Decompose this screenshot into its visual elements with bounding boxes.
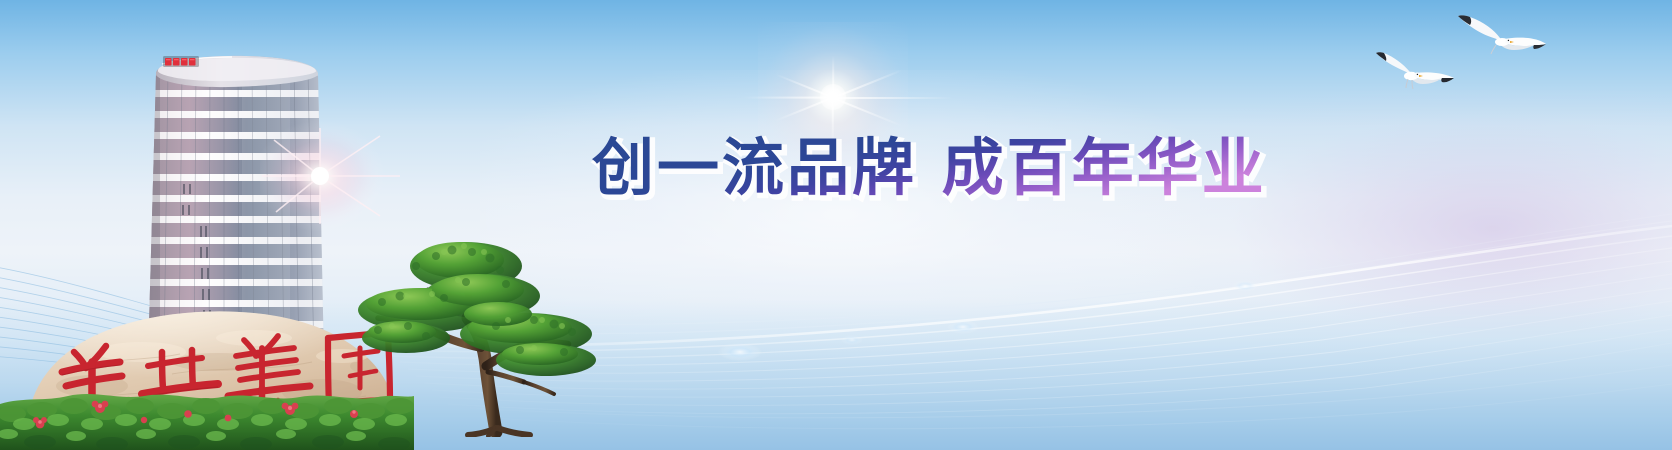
sun-ray-8 [832,56,834,98]
corporate-banner: 创一流品牌 成百年华业 创一流品牌 成百年华业 [0,0,1672,450]
rooftop-sign [163,56,199,67]
seagull-upper-right [1456,12,1548,60]
sun-ray-2 [743,97,833,99]
sun-ray-5 [775,97,833,122]
slogan-clickable-area [590,128,1360,214]
sun-ray-1 [833,97,953,99]
sun-ray-6 [775,74,833,99]
sun-core [820,84,846,110]
sun-ray-3 [833,97,903,127]
sun-ray-4 [833,69,903,99]
seagull-lower-right [1376,50,1456,92]
hedge-foliage [0,384,414,450]
